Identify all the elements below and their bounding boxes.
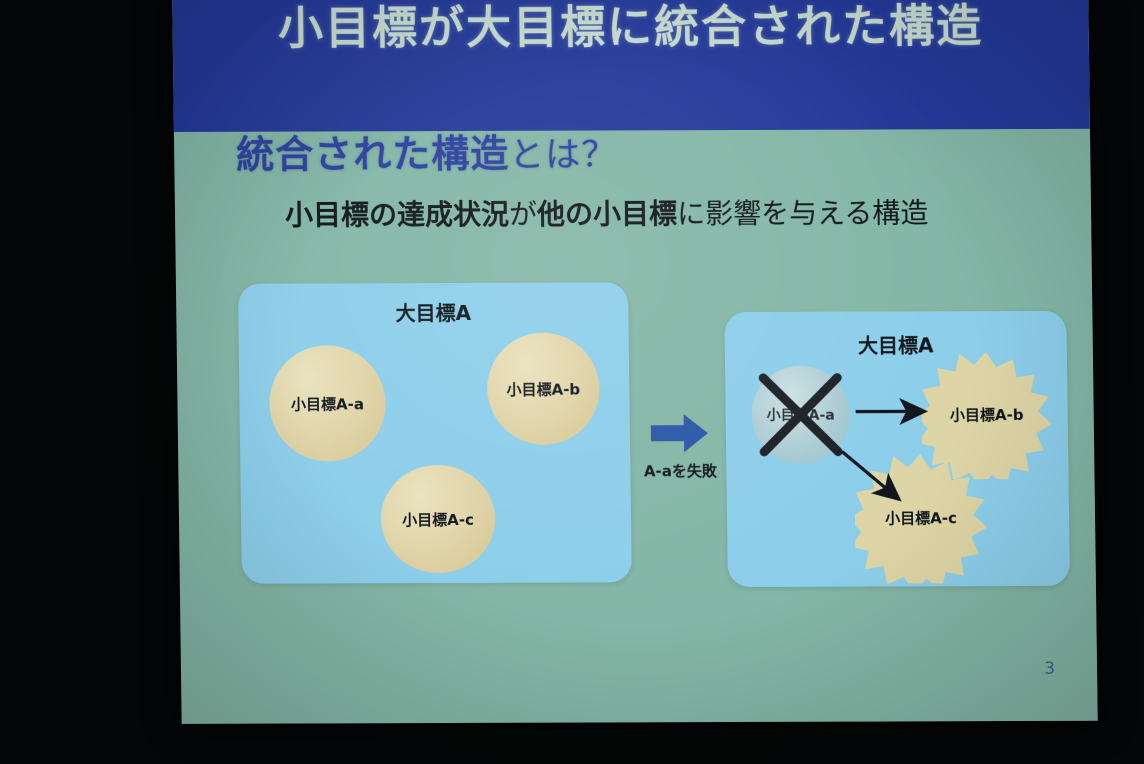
page-number: 3 xyxy=(1044,659,1055,679)
impacted-goal-star-b: 小目標A-b xyxy=(921,349,1053,479)
slide: 小目標が大目標に統合された構造 統合された構造とは？ 小目標の達成状況が他の小目… xyxy=(172,0,1098,724)
group-box-after-title: 大目標A xyxy=(725,329,1067,359)
body-text-part1: 小目標の達成状況 xyxy=(285,198,509,232)
section-heading-bold: 統合された構造 xyxy=(236,132,510,177)
impacted-goal-star-c-label: 小目標A-c xyxy=(885,507,957,528)
slide-surface: 小目標が大目標に統合された構造 統合された構造とは？ 小目標の達成状況が他の小目… xyxy=(172,0,1098,724)
transition-arrow-group: A-aを失敗 xyxy=(634,412,727,481)
section-heading: 統合された構造とは？ xyxy=(236,122,618,178)
group-box-before-title: 大目標A xyxy=(238,296,628,326)
projected-slide-photo: 小目標が大目標に統合された構造 統合された構造とは？ 小目標の達成状況が他の小目… xyxy=(0,0,1144,764)
group-box-before: 大目標A 小目標A-a 小目標A-b 小目標A-c xyxy=(238,282,632,583)
failed-goal-label: 小目標A-a xyxy=(767,405,835,425)
group-box-after: 大目標A 小目標A-a 小目標A-b xyxy=(724,311,1070,587)
goal-circle-c-label: 小目標A-c xyxy=(402,508,474,529)
starburst-shape-c xyxy=(854,451,988,583)
section-body-text: 小目標の達成状況が他の小目標に影響を与える構造 xyxy=(285,191,929,233)
influence-arrows xyxy=(724,311,1070,587)
arrow-to-goal-c xyxy=(842,451,897,497)
starburst-shape-b xyxy=(921,349,1053,479)
failed-goal-circle: 小目標A-a xyxy=(751,366,850,464)
right-arrow-icon xyxy=(651,412,710,454)
cross-out-icon xyxy=(747,362,854,468)
goal-circle-c: 小目標A-c xyxy=(380,465,495,573)
body-text-part2: が xyxy=(509,198,537,231)
goal-circle-b-label: 小目標A-b xyxy=(506,378,580,399)
slide-title: 小目標が大目標に統合された構造 xyxy=(172,0,1089,55)
body-text-part4: に影響を与える構造 xyxy=(677,196,929,230)
body-text-part3: 他の小目標 xyxy=(537,197,677,230)
section-heading-light: とは？ xyxy=(509,135,618,175)
goal-circle-b: 小目標A-b xyxy=(487,332,600,444)
goal-circle-a: 小目標A-a xyxy=(269,345,387,461)
impacted-goal-star-b-label: 小目標A-b xyxy=(950,404,1024,425)
impacted-goal-star-c: 小目標A-c xyxy=(854,451,988,583)
transition-caption: A-aを失敗 xyxy=(634,460,726,481)
goal-circle-a-label: 小目標A-a xyxy=(291,393,364,414)
